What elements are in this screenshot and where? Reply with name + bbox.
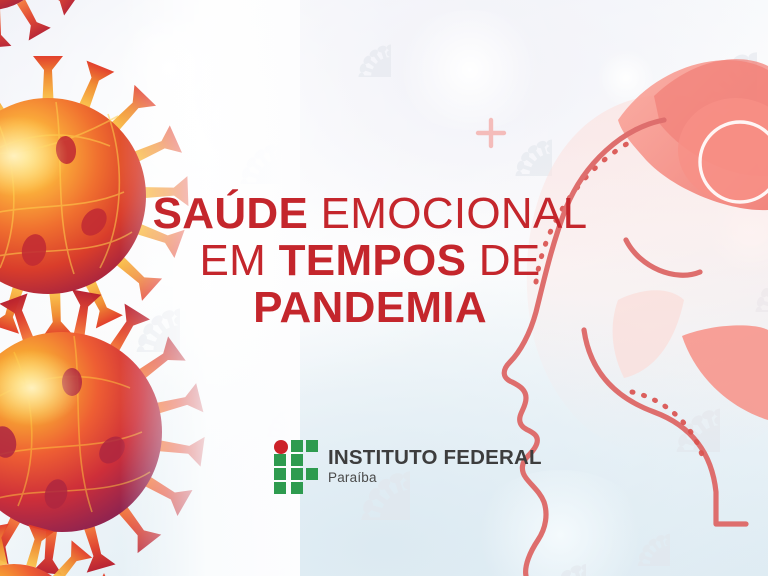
watermark-virus-8 <box>187 511 286 576</box>
watermark-virus-3 <box>623 0 756 109</box>
logo-wordmark: INSTITUTO FEDERAL Paraíba <box>328 448 542 487</box>
title-word-tempos: TEMPOS <box>279 236 467 285</box>
title-word-saude: SAÚDE <box>153 189 309 238</box>
watermark-virus-12 <box>594 490 669 565</box>
instituto-federal-paraiba-logo: INSTITUTO FEDERAL Paraíba <box>274 440 542 494</box>
logo-red-circle <box>274 440 288 454</box>
watermark-virus-4 <box>313 0 391 77</box>
light-blob-2 <box>110 18 230 118</box>
title-word-emocional: EMOCIONAL <box>308 189 587 238</box>
title-line-2: EM TEMPOS DE <box>140 239 600 284</box>
ifpb-logo-mark-icon <box>274 440 318 494</box>
title-line-1: SAÚDE EMOCIONAL <box>140 192 600 237</box>
light-blob-1 <box>390 10 550 130</box>
light-blob-3 <box>596 48 656 108</box>
title-line-3: PANDEMIA <box>140 286 600 331</box>
logo-title: INSTITUTO FEDERAL <box>328 448 542 469</box>
title-word-pandemia: PANDEMIA <box>253 283 487 332</box>
title-word-de: DE <box>466 236 540 285</box>
plus-sign-accent <box>478 120 504 146</box>
watermark-virus-6 <box>227 367 297 437</box>
coral-hair-shapes <box>613 59 768 420</box>
neck-shoulder-line <box>584 330 746 524</box>
page-title: SAÚDE EMOCIONAL EM TEMPOS DE PANDEMIA <box>140 192 600 331</box>
logo-subtitle: Paraíba <box>328 471 542 485</box>
watermark-virus-1 <box>183 86 282 185</box>
watermark-virus-11 <box>705 225 768 312</box>
watermark-virus-9 <box>494 510 587 576</box>
title-word-em: EM <box>200 236 279 285</box>
white-circle-outline <box>700 122 768 202</box>
light-blob-4 <box>706 184 768 274</box>
neck-dotted-arc <box>632 392 704 462</box>
watermark-virus-10 <box>616 348 720 452</box>
eyebrow-arc <box>626 240 700 275</box>
watermark-virus-2 <box>465 89 552 176</box>
poster-canvas: SAÚDE EMOCIONAL EM TEMPOS DE PANDEMIA IN… <box>0 0 768 576</box>
